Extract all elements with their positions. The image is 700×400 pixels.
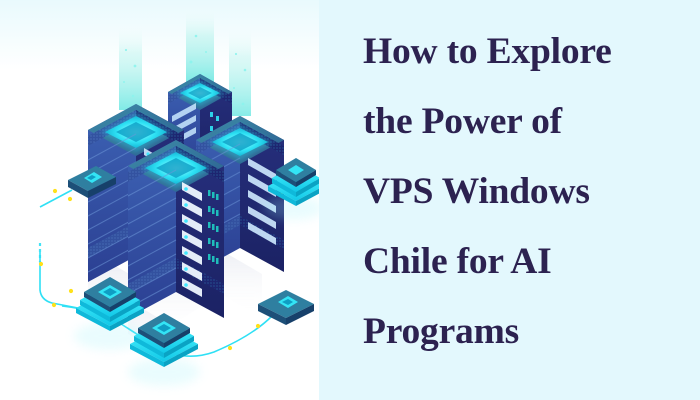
node-chip-bottom-right (258, 290, 314, 325)
cable-left-vertical (40, 252, 78, 308)
headline-line-2: the Power of (363, 87, 683, 157)
headline-line-4: Chile for AI (363, 227, 683, 297)
tower-front-center (128, 140, 224, 318)
blog-header-card: How to Explore the Power of VPS Windows … (0, 0, 700, 400)
isometric-data-center-illustration (0, 0, 319, 400)
illustration-panel (0, 0, 319, 400)
text-panel: How to Explore the Power of VPS Windows … (319, 0, 700, 400)
light-beam-right (229, 24, 251, 116)
page-title: How to Explore the Power of VPS Windows … (363, 17, 683, 367)
light-beam-left (119, 22, 142, 110)
headline-line-3: VPS Windows (363, 157, 683, 227)
headline-line-1: How to Explore (363, 17, 683, 87)
headline-line-5: Programs (363, 297, 683, 367)
